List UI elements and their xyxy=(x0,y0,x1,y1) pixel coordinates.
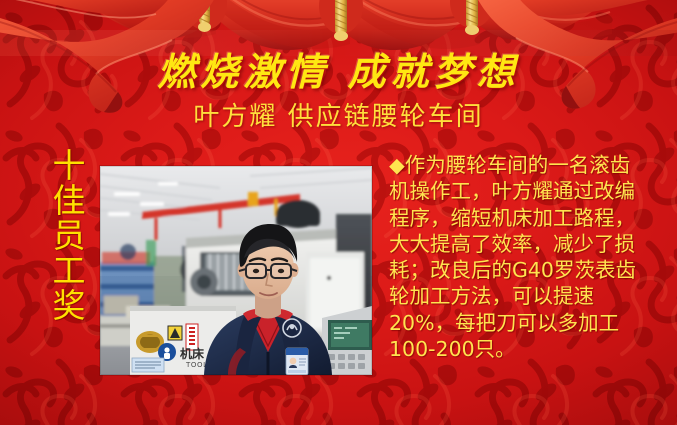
description-line: ◆作为腰轮车间的一名滚齿 xyxy=(389,152,675,178)
description-line: 轮加工方法，可以提速 xyxy=(389,283,675,309)
description-line: 程序，缩短机床加工路程， xyxy=(389,205,675,231)
machine-label-en: TOOL xyxy=(185,361,208,369)
employee-photo: 机床 TOOL xyxy=(100,166,372,375)
machine-label-cn: 机床 xyxy=(180,346,205,361)
description-line: 100-200只。 xyxy=(389,336,675,362)
award-vertical-text: 十佳员工奖 xyxy=(44,148,84,323)
description-line: 机操作工，叶方耀通过改编 xyxy=(389,178,675,204)
award-poster: 燃烧激情 成就梦想 叶方耀 供应链腰轮车间 十佳员工奖 xyxy=(0,0,677,425)
description-text: ◆作为腰轮车间的一名滚齿 机操作工，叶方耀通过改编 程序，缩短机床加工路程， 大… xyxy=(389,152,675,362)
description-line: 20%，每把刀可以多加工 xyxy=(389,310,675,336)
page-title: 燃烧激情 成就梦想 xyxy=(0,41,677,96)
description-line: 耗；改良后的G40罗茨表齿 xyxy=(389,257,675,283)
id-badge xyxy=(286,348,308,375)
page-subtitle: 叶方耀 供应链腰轮车间 xyxy=(0,96,677,133)
description-line: 大大提高了效率，减少了损 xyxy=(389,231,675,257)
